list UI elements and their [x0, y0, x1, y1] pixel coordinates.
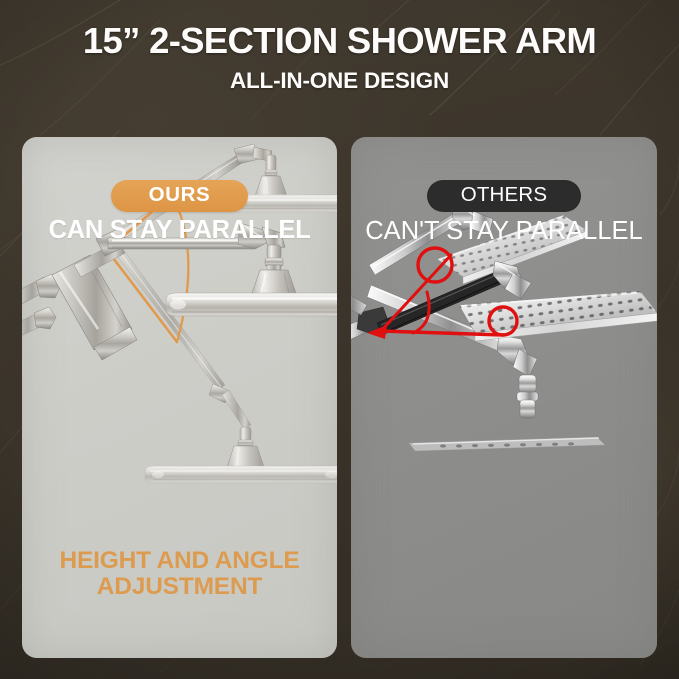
panel-ours: OURS CAN STAY PARALLEL HEIGHT AND ANGLE …: [22, 137, 337, 658]
others-badge-row: OTHERS: [351, 180, 657, 212]
footnote-ours: HEIGHT AND ANGLE ADJUSTMENT: [22, 548, 337, 600]
footnote-ours-line2: ADJUSTMENT: [22, 574, 337, 600]
badge-ours: OURS: [111, 180, 249, 212]
panel-others: OTHERS CAN'T STAY PARALLEL: [351, 137, 657, 658]
page-subtitle: ALL-IN-ONE DESIGN: [0, 68, 679, 94]
header: 15” 2-SECTION SHOWER ARM ALL-IN-ONE DESI…: [0, 22, 679, 94]
badge-others: OTHERS: [427, 180, 582, 212]
footnote-ours-line1: HEIGHT AND ANGLE: [22, 548, 337, 574]
others-product-illustration: [351, 137, 657, 658]
page-title: 15” 2-SECTION SHOWER ARM: [0, 22, 679, 59]
product-comparison-image: 15” 2-SECTION SHOWER ARM ALL-IN-ONE DESI…: [0, 0, 679, 679]
ours-badge-row: OURS: [22, 180, 337, 212]
claim-others: CAN'T STAY PARALLEL: [351, 217, 657, 246]
claim-ours: CAN STAY PARALLEL: [22, 216, 337, 245]
